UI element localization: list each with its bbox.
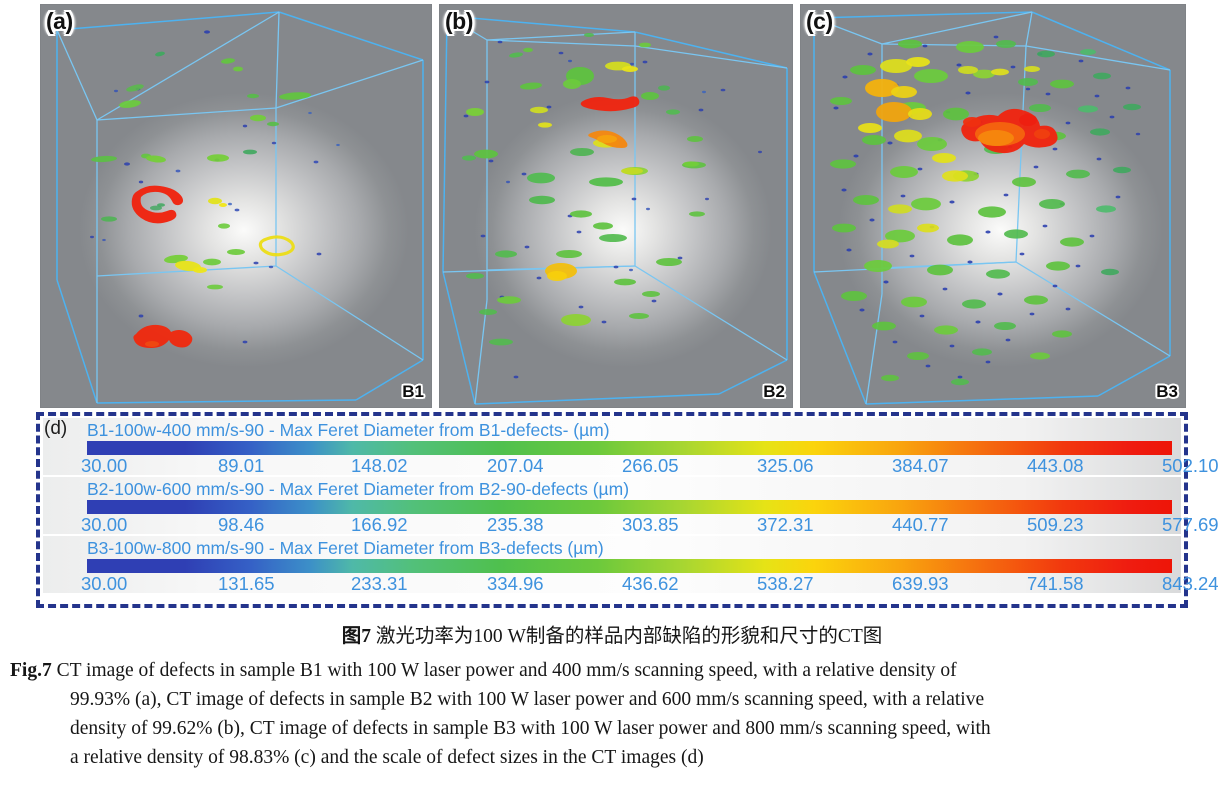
ct-image-row: (a) B1 <box>40 4 1186 408</box>
tick-value: 639.93 <box>892 573 949 595</box>
panel-letter-d: (d) <box>44 418 67 440</box>
tick-value: 372.31 <box>757 514 814 536</box>
tick-value: 509.23 <box>1027 514 1084 536</box>
figure-caption-cn-text: 激光功率为100 W制备的样品内部缺陷的形貌和尺寸的CT图 <box>371 626 882 647</box>
color-scale-b2-title: B2-100w-600 mm/s-90 - Max Feret Diameter… <box>87 479 629 500</box>
caption-line-1: CT image of defects in sample B1 with 10… <box>52 660 957 681</box>
tick-value: 207.04 <box>487 455 544 477</box>
sample-tag-b2: B2 <box>763 382 785 402</box>
tick-value: 436.62 <box>622 573 679 595</box>
color-scale-b3-ticks: 30.00 131.65 233.31 334.96 436.62 538.27… <box>81 573 1181 593</box>
figure-caption-english: Fig.7 CT image of defects in sample B1 w… <box>10 656 1212 772</box>
tick-value: 30.00 <box>81 514 127 536</box>
defect-cluster-small <box>464 41 762 379</box>
tick-value: 98.46 <box>218 514 264 536</box>
caption-line-3: density of 99.62% (b), CT image of defec… <box>70 714 1212 743</box>
tick-value: 233.31 <box>351 573 408 595</box>
defect-cluster-small <box>90 30 340 343</box>
sample-tag-b1: B1 <box>402 382 424 402</box>
ct-panel-b1: (a) B1 <box>40 4 432 408</box>
color-scale-b1-ticks: 30.00 89.01 148.02 207.04 266.05 325.06 … <box>81 455 1181 475</box>
tick-value: 131.65 <box>218 573 275 595</box>
tick-value: 440.77 <box>892 514 949 536</box>
tick-value: 384.07 <box>892 455 949 477</box>
color-scale-b3-bar <box>87 559 1172 573</box>
color-scale-b1: B1-100w-400 mm/s-90 - Max Feret Diameter… <box>43 418 1181 475</box>
tick-value: 325.06 <box>757 455 814 477</box>
tick-value: 577.69 <box>1162 514 1219 536</box>
figure-caption: 图7 激光功率为100 W制备的样品内部缺陷的形貌和尺寸的CT图 Fig.7 C… <box>0 618 1224 772</box>
color-scale-b2: B2-100w-600 mm/s-90 - Max Feret Diameter… <box>43 477 1181 534</box>
tick-value: 538.27 <box>757 573 814 595</box>
tick-value: 148.02 <box>351 455 408 477</box>
ct-panel-b2: (b) B2 <box>439 4 793 408</box>
caption-line-2: 99.93% (a), CT image of defects in sampl… <box>70 685 1212 714</box>
sample-tag-b3: B3 <box>1156 382 1178 402</box>
ct-panel-b3: (c) B3 <box>800 4 1186 408</box>
tick-value: 30.00 <box>81 573 127 595</box>
color-scale-b3: B3-100w-800 mm/s-90 - Max Feret Diameter… <box>43 536 1181 593</box>
figure-number-en: Fig.7 <box>10 660 52 681</box>
tick-value: 166.92 <box>351 514 408 536</box>
tick-value: 235.38 <box>487 514 544 536</box>
defect-cluster-large <box>530 62 643 281</box>
tick-value: 502.10 <box>1162 455 1219 477</box>
panel-letter-c: (c) <box>806 8 833 35</box>
figure-caption-chinese: 图7 激光功率为100 W制备的样品内部缺陷的形貌和尺寸的CT图 <box>0 618 1224 650</box>
defect-cluster-large <box>858 57 1040 248</box>
tick-value: 266.05 <box>622 455 679 477</box>
color-scale-b1-bar <box>87 441 1172 455</box>
tick-value: 89.01 <box>218 455 264 477</box>
caption-line-4: a relative density of 98.83% (c) and the… <box>70 743 1212 772</box>
defect-cluster-max <box>581 96 640 148</box>
tick-value: 334.96 <box>487 573 544 595</box>
figure-number-cn: 图7 <box>342 626 371 647</box>
tick-value: 843.24 <box>1162 573 1219 595</box>
defect-size-scale-legend: (d) B1-100w-400 mm/s-90 - Max Feret Diam… <box>36 412 1188 608</box>
tick-value: 443.08 <box>1027 455 1084 477</box>
color-scale-b2-bar <box>87 500 1172 514</box>
tick-value: 303.85 <box>622 514 679 536</box>
panel-letter-a: (a) <box>46 8 73 35</box>
defect-cluster-max <box>961 109 1057 153</box>
color-scale-b1-title: B1-100w-400 mm/s-90 - Max Feret Diameter… <box>87 420 610 441</box>
color-scale-b3-title: B3-100w-800 mm/s-90 - Max Feret Diameter… <box>87 538 604 559</box>
panel-letter-b: (b) <box>445 8 473 35</box>
ct-render-b2 <box>439 4 793 408</box>
tick-value: 30.00 <box>81 455 127 477</box>
color-scale-b2-ticks: 30.00 98.46 166.92 235.38 303.85 372.31 … <box>81 514 1181 534</box>
ct-render-b1 <box>40 4 432 408</box>
defect-cluster-medium <box>462 33 706 345</box>
tick-value: 741.58 <box>1027 573 1084 595</box>
ct-render-b3 <box>800 4 1186 408</box>
